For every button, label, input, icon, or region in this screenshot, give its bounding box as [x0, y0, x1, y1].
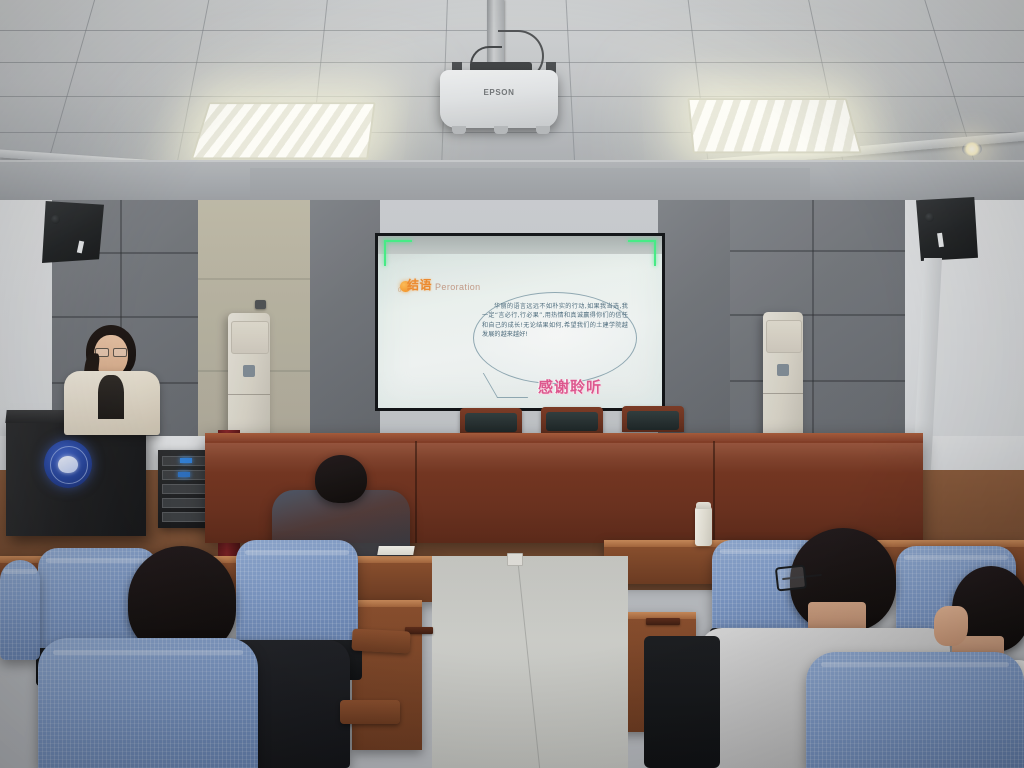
- alignment-marker-icon: [384, 240, 412, 242]
- audience-desk-left-side: [352, 600, 422, 750]
- audience-chair: [236, 540, 358, 648]
- emblem-mark-icon: [58, 456, 78, 473]
- projection-screen: 0 结语 Peroration 华丽的语言远远不如朴实的行动,如果我当选,我一定…: [378, 236, 662, 408]
- floor-outlet: [507, 553, 523, 566]
- wall-speaker-right: [916, 197, 978, 261]
- screen-top-band: [378, 236, 662, 254]
- ceiling-spotlight: [962, 142, 982, 156]
- thermos-bottle-cap: [696, 502, 711, 509]
- projector-foot: [536, 126, 550, 134]
- thanks-text: 感谢聆听: [538, 376, 602, 397]
- audience-center-head: [315, 455, 367, 503]
- desk-name-card: [646, 618, 680, 625]
- air-conditioner-right: [763, 312, 803, 442]
- audience-far-right-hand: [934, 606, 968, 646]
- speech-bubble-tail: [490, 373, 521, 395]
- projector-foot: [452, 126, 466, 134]
- wall-speaker-left: [42, 201, 104, 263]
- center-aisle-floor: [432, 556, 628, 768]
- presenter-person: [62, 325, 162, 435]
- projector-foot: [494, 126, 508, 134]
- slide-title-en: Peroration: [435, 282, 481, 292]
- audience-right-glasses-lens: [775, 564, 807, 591]
- wall-dark-panel-center-left: [310, 200, 380, 444]
- audience-chair-foreground-right: [806, 652, 1024, 768]
- projector-brand-label: EPSON: [478, 88, 520, 97]
- alignment-marker-icon: [384, 240, 386, 266]
- judge-chair: [541, 407, 603, 433]
- presenter-inner-top: [98, 375, 124, 419]
- wall-camera-icon: [255, 300, 266, 309]
- slide-title-cn: 结语: [407, 276, 432, 293]
- alignment-marker-icon: [628, 240, 656, 242]
- judge-chair: [622, 406, 684, 432]
- chair-armrest: [351, 628, 410, 653]
- desk-paper: [377, 546, 415, 555]
- judge-chair: [460, 408, 522, 434]
- podium: [6, 418, 146, 536]
- ceiling-light-panel-right: [687, 98, 861, 153]
- audience-chair: [0, 560, 40, 660]
- audience-chair-foreground-left: [38, 638, 258, 768]
- projector-body: [440, 70, 558, 128]
- thermos-bottle: [695, 506, 712, 546]
- university-emblem: [44, 440, 92, 488]
- judges-table-top: [205, 433, 923, 441]
- wall-dark-panel-right: [730, 200, 912, 450]
- audience-chair-side-panel: [644, 636, 720, 768]
- air-conditioner-left: [228, 313, 270, 443]
- speech-bubble-text: 华丽的语言远远不如朴实的行动,如果我当选,我一定“言必行,行必果”,用热情和真诚…: [482, 302, 628, 340]
- presenter-glasses-icon: [95, 348, 127, 355]
- slide-title: 结语 Peroration: [400, 276, 481, 293]
- lecture-hall-photo: EPSON: [0, 0, 1024, 768]
- chair-armrest: [340, 700, 400, 724]
- alignment-marker-icon: [654, 240, 656, 266]
- ceiling-light-panel-left: [191, 102, 376, 159]
